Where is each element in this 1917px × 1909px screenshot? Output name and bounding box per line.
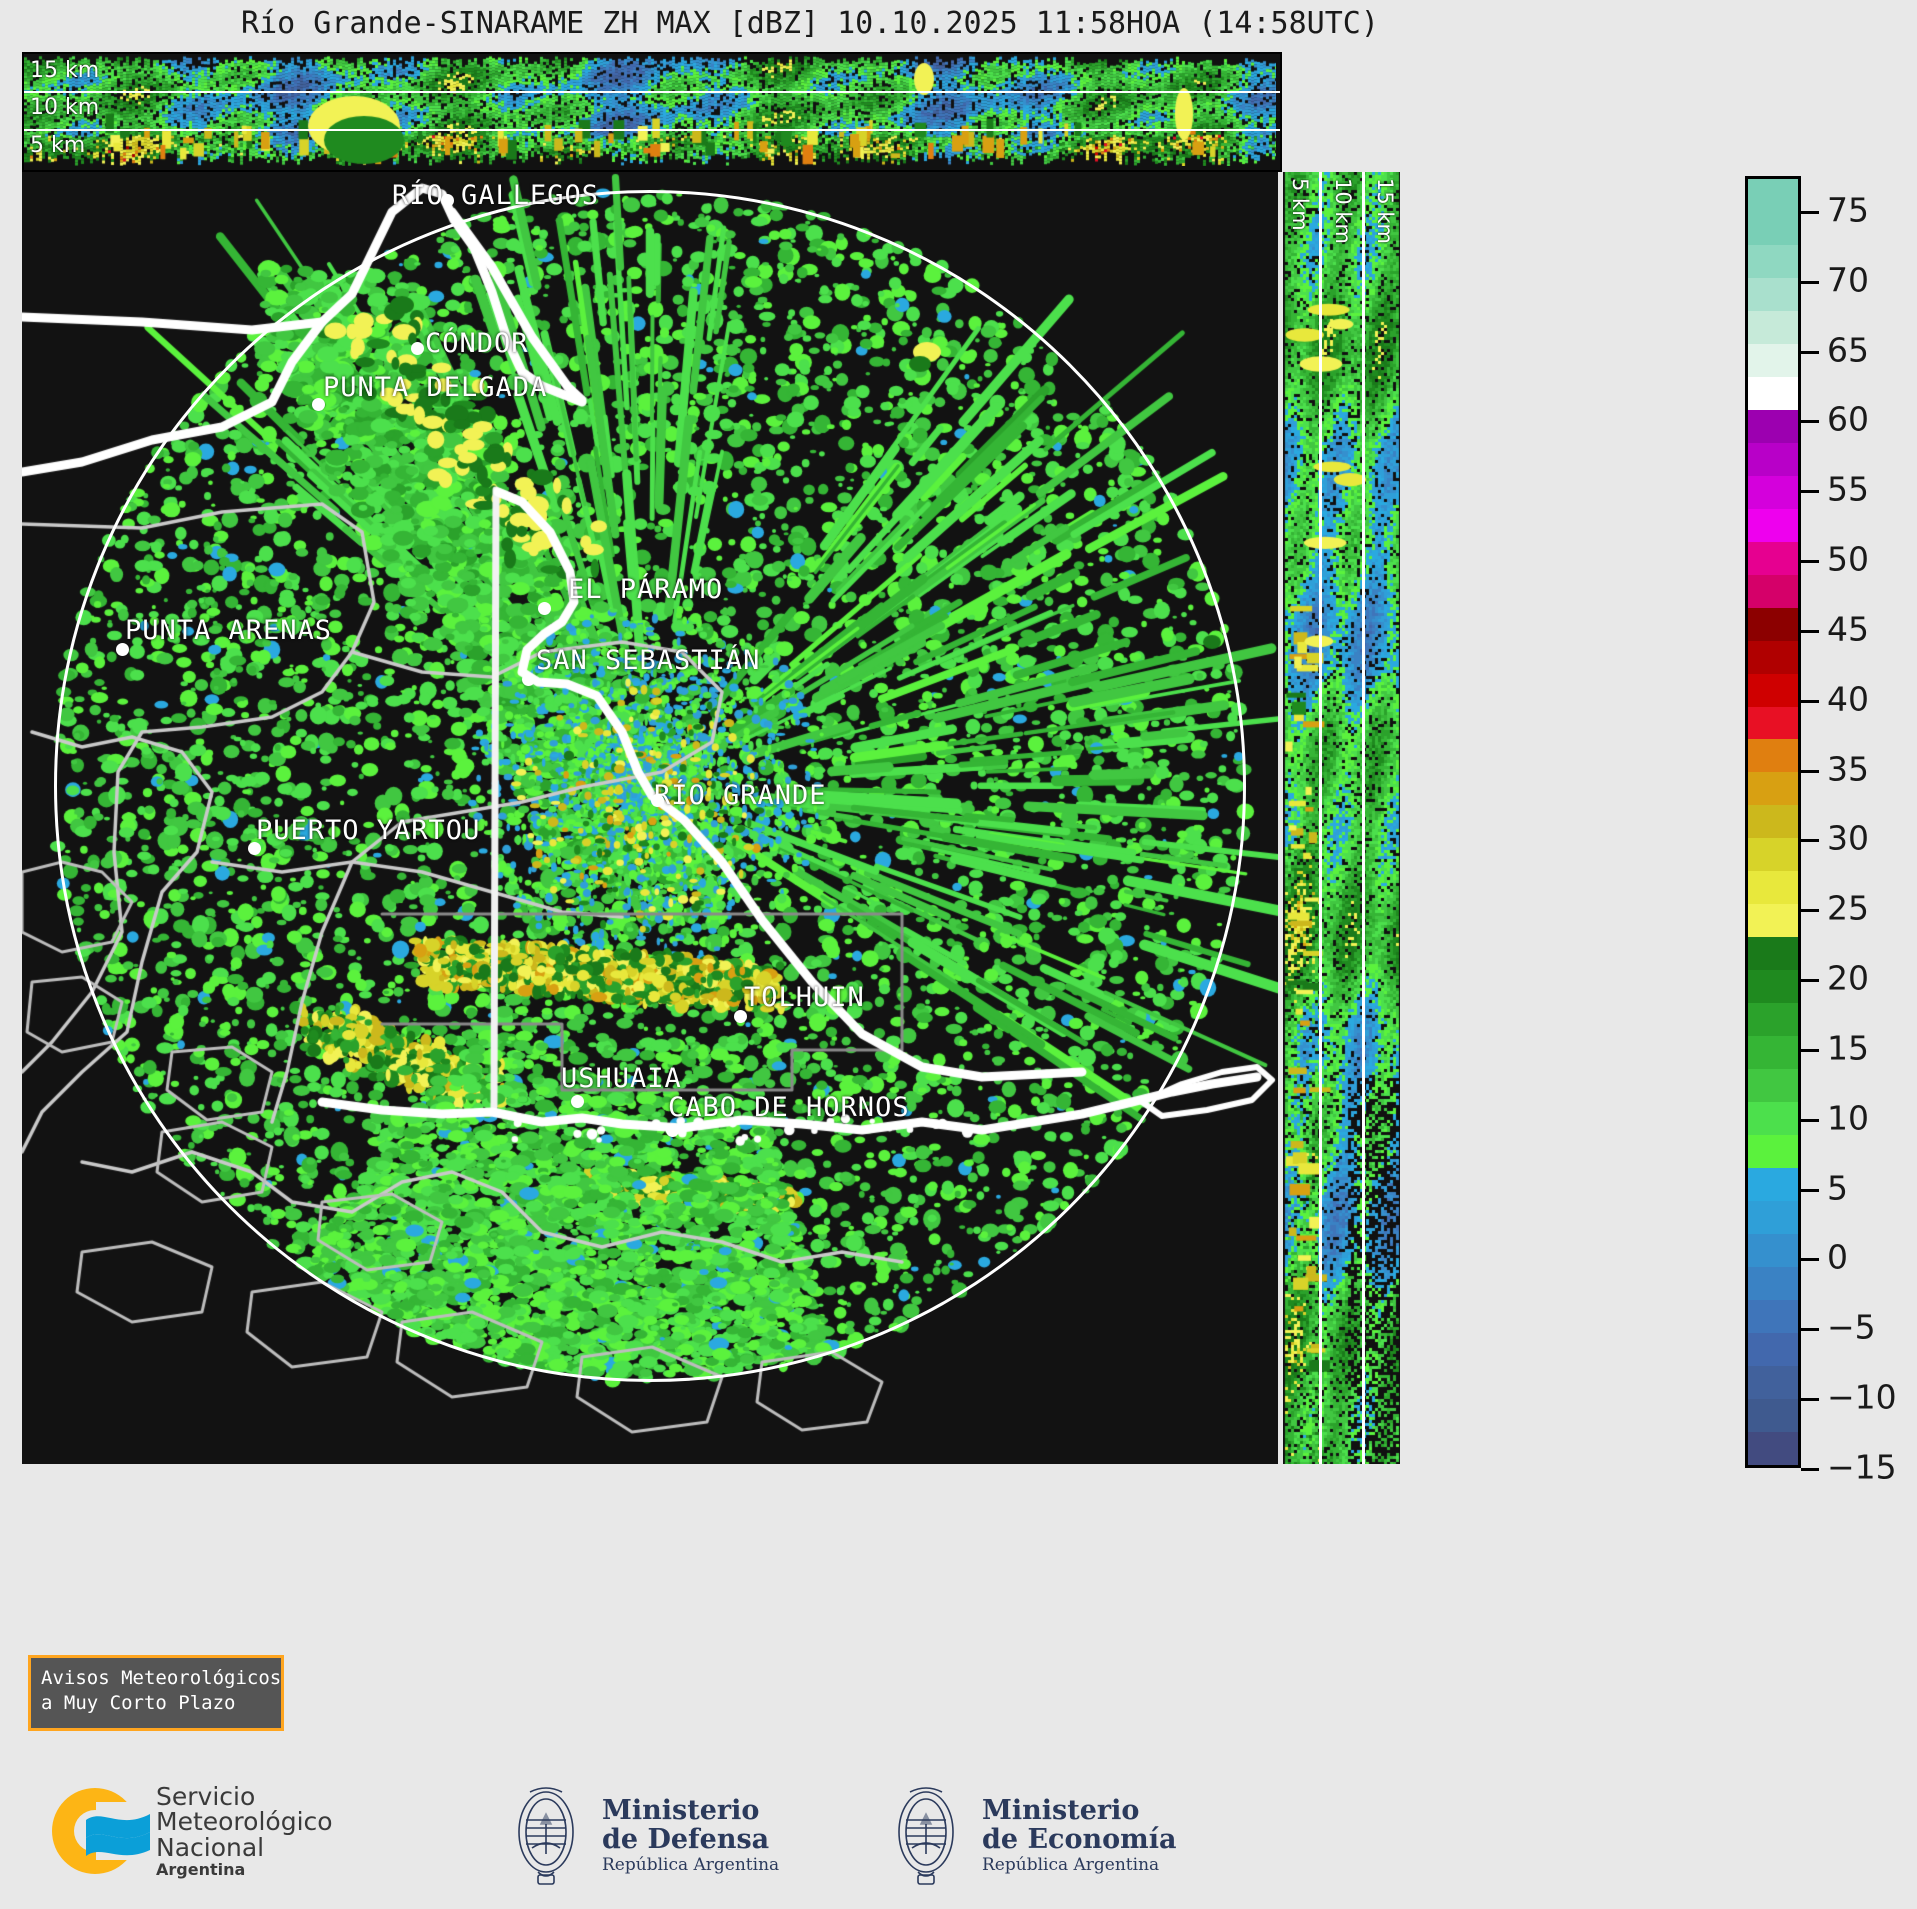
colorbar-segment [1748, 904, 1798, 937]
right-cross-section-canvas [1283, 172, 1400, 1464]
city-label-r-o-grande: RÍO GRANDE [654, 780, 827, 811]
colorbar-tick [1801, 1468, 1819, 1471]
argentina-coat-of-arms-icon [880, 1780, 972, 1892]
colorbar-tick-labels: 757065605550454035302520151050−5−10−15 [1801, 176, 1917, 1468]
colorbar-tick-label: 20 [1827, 959, 1869, 998]
colorbar-segment [1748, 674, 1798, 707]
page-title: Río Grande-SINARAME ZH MAX [dBZ] 10.10.2… [0, 6, 1620, 41]
colorbar-tick [1801, 211, 1819, 214]
colorbar-segment [1748, 970, 1798, 1003]
colorbar-segment [1748, 212, 1798, 245]
colorbar-tick [1801, 490, 1819, 493]
colorbar-segment [1748, 772, 1798, 805]
colorbar-tick-label: 50 [1827, 540, 1869, 579]
colorbar-segment [1748, 1432, 1798, 1465]
colorbar-tick [1801, 281, 1819, 284]
city-label-c-ndor: CÓNDOR [425, 328, 529, 359]
defensa-line1: Ministerio [602, 1797, 779, 1825]
city-marker-el-p-ramo [538, 602, 551, 615]
colorbar-segment [1748, 1135, 1798, 1168]
colorbar-tick-label: 45 [1827, 610, 1869, 649]
colorbar-segment [1748, 1168, 1798, 1201]
colorbar-segment [1748, 871, 1798, 904]
right-xsec-label-15km: 15 km [1373, 178, 1397, 244]
colorbar-tick [1801, 1398, 1819, 1401]
logo-ministerio-economia[interactable]: Ministerio de Economía República Argenti… [880, 1780, 1176, 1892]
colorbar-tick-label: 75 [1827, 191, 1869, 230]
city-label-tolhuin: TOLHUIN [744, 982, 865, 1013]
colorbar-segment [1748, 179, 1798, 212]
city-label-punta-delgada: PUNTA DELGADA [323, 372, 547, 403]
colorbar-segment [1748, 1102, 1798, 1135]
colorbar-segment [1748, 1399, 1798, 1432]
colorbar-tick [1801, 1328, 1819, 1331]
top-xsec-label-15km: 15 km [30, 58, 99, 83]
colorbar-tick-label: 25 [1827, 889, 1869, 928]
colorbar-segment [1748, 575, 1798, 608]
city-label-cabo-de-hornos: CABO DE HORNOS [668, 1092, 910, 1123]
city-marker-punta-arenas [116, 643, 129, 656]
colorbar-tick [1801, 1119, 1819, 1122]
colorbar-tick-label: 55 [1827, 470, 1869, 509]
city-marker-punta-delgada [312, 398, 325, 411]
top-cross-section-panel: 15 km 10 km 5 km [22, 52, 1282, 172]
right-xsec-gridline-5km [1319, 172, 1322, 1464]
city-label-puerto-yartou: PUERTO YARTOU [256, 815, 480, 846]
colorbar-tick-label: 40 [1827, 680, 1869, 719]
colorbar-tick [1801, 700, 1819, 703]
smn-label-line3: Nacional [156, 1835, 333, 1861]
colorbar-segment [1748, 937, 1798, 970]
colorbar-segment [1748, 1234, 1798, 1267]
radar-range-ring [54, 190, 1246, 1382]
argentina-coat-of-arms-icon [500, 1780, 592, 1892]
right-cross-section-panel: 5 km 10 km 15 km [1283, 172, 1400, 1464]
colorbar-tick-label: 15 [1827, 1029, 1869, 1068]
colorbar-segment [1748, 1003, 1798, 1036]
city-label-ushuaia: USHUAIA [561, 1063, 682, 1094]
colorbar-segment [1748, 608, 1798, 641]
colorbar-tick [1801, 351, 1819, 354]
top-xsec-label-10km: 10 km [30, 95, 99, 120]
colorbar-segment [1748, 1366, 1798, 1399]
colorbar-segment [1748, 1300, 1798, 1333]
colorbar-tick [1801, 979, 1819, 982]
colorbar-segment [1748, 1333, 1798, 1366]
colorbar-tick-label: −5 [1827, 1308, 1876, 1347]
colorbar-gradient [1745, 176, 1801, 1468]
flag-wave-icon [84, 1806, 154, 1862]
colorbar-segment [1748, 377, 1798, 410]
colorbar-segment [1748, 1201, 1798, 1234]
smn-label-line1: Servicio [156, 1784, 333, 1810]
smn-label-line2: Meteorológico [156, 1809, 333, 1835]
city-marker-cabo-de-hornos [666, 1124, 679, 1137]
top-xsec-label-5km: 5 km [30, 133, 85, 158]
city-marker-puerto-yartou [248, 842, 261, 855]
right-xsec-gridline-10km [1362, 172, 1365, 1464]
colorbar-tick-label: 30 [1827, 819, 1869, 858]
colorbar-tick [1801, 770, 1819, 773]
colorbar-tick [1801, 1189, 1819, 1192]
colorbar-tick-label: 35 [1827, 749, 1869, 788]
city-label-san-sebasti-n: SAN SEBASTIÁN [536, 645, 760, 676]
city-marker-ushuaia [571, 1095, 584, 1108]
colorbar-tick-label: −15 [1827, 1448, 1897, 1487]
colorbar-tick-label: 60 [1827, 400, 1869, 439]
colorbar-segment [1748, 1036, 1798, 1069]
colorbar-segment [1748, 641, 1798, 674]
right-xsec-label-5km: 5 km [1288, 178, 1312, 231]
smn-logo-icon [52, 1782, 150, 1880]
warning-line-2: a Muy Corto Plazo [41, 1691, 271, 1716]
economia-line1: Ministerio [982, 1797, 1176, 1825]
colorbar-tick [1801, 560, 1819, 563]
colorbar-segment [1748, 509, 1798, 542]
city-marker-r-o-gallegos [441, 194, 454, 207]
colorbar-tick-label: 70 [1827, 260, 1869, 299]
colorbar-tick [1801, 1258, 1819, 1261]
logo-smn[interactable]: Servicio Meteorológico Nacional Argentin… [52, 1782, 333, 1880]
colorbar-segment [1748, 542, 1798, 575]
colorbar: 757065605550454035302520151050−5−10−15 [1745, 176, 1805, 1468]
colorbar-segment [1748, 739, 1798, 772]
colorbar-tick-label: 0 [1827, 1238, 1848, 1277]
colorbar-tick-label: 10 [1827, 1099, 1869, 1138]
city-marker-r-o-grande [651, 794, 664, 807]
right-xsec-label-10km: 10 km [1331, 178, 1355, 244]
top-xsec-gridline-5km [24, 129, 1280, 131]
colorbar-segment [1748, 443, 1798, 476]
warning-line-1: Avisos Meteorológicos [41, 1666, 271, 1691]
colorbar-tick [1801, 420, 1819, 423]
top-xsec-gridline-10km [24, 91, 1280, 93]
economia-line3: República Argentina [982, 1857, 1176, 1875]
colorbar-segment [1748, 344, 1798, 377]
city-marker-san-sebasti-n [522, 673, 535, 686]
smn-label-line4: Argentina [156, 1862, 333, 1878]
colorbar-tick [1801, 630, 1819, 633]
city-label-r-o-gallegos: RÍO GALLEGOS [392, 180, 599, 211]
colorbar-segment [1748, 1267, 1798, 1300]
colorbar-segment [1748, 707, 1798, 740]
colorbar-tick-label: 65 [1827, 330, 1869, 369]
defensa-line3: República Argentina [602, 1857, 779, 1875]
city-marker-c-ndor [411, 342, 424, 355]
colorbar-tick [1801, 909, 1819, 912]
colorbar-segment [1748, 805, 1798, 838]
logo-ministerio-defensa[interactable]: Ministerio de Defensa República Argentin… [500, 1780, 779, 1892]
colorbar-segment [1748, 278, 1798, 311]
radar-map-panel[interactable]: RÍO GALLEGOSCÓNDORPUNTA DELGADAPUNTA ARE… [22, 172, 1278, 1464]
economia-line2: de Economía [982, 1826, 1176, 1854]
top-cross-section-canvas [24, 54, 1276, 166]
footer: Servicio Meteorológico Nacional Argentin… [0, 1768, 1917, 1909]
city-label-el-p-ramo: EL PÁRAMO [568, 574, 723, 605]
weather-warning-box[interactable]: Avisos Meteorológicos a Muy Corto Plazo [28, 1655, 284, 1731]
colorbar-tick-label: −10 [1827, 1378, 1897, 1417]
colorbar-tick [1801, 1049, 1819, 1052]
city-marker-tolhuin [734, 1010, 747, 1023]
colorbar-tick-label: 5 [1827, 1168, 1848, 1207]
colorbar-segment [1748, 838, 1798, 871]
colorbar-tick [1801, 839, 1819, 842]
defensa-line2: de Defensa [602, 1826, 779, 1854]
colorbar-segment [1748, 410, 1798, 443]
colorbar-segment [1748, 311, 1798, 344]
colorbar-segment [1748, 245, 1798, 278]
colorbar-segment [1748, 476, 1798, 509]
city-label-punta-arenas: PUNTA ARENAS [125, 615, 332, 646]
colorbar-segment [1748, 1069, 1798, 1102]
